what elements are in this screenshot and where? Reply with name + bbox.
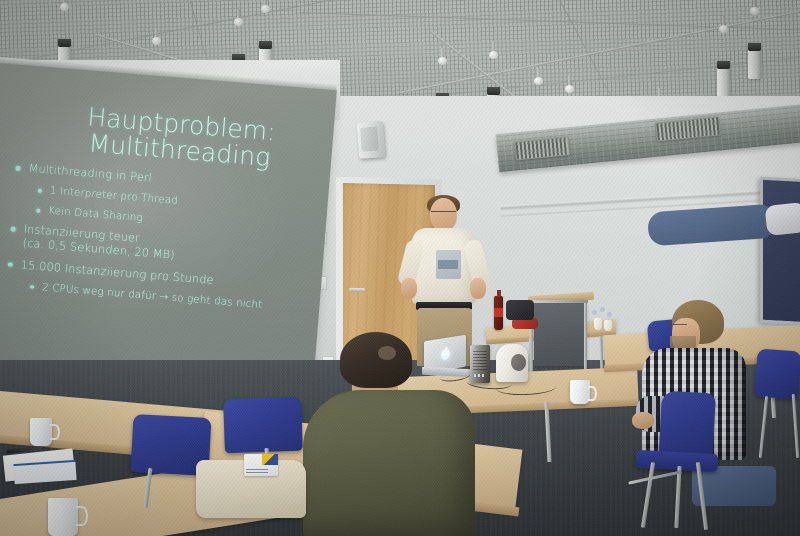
projection-screen: Hauptproblem: Multithreading Multithread…	[0, 62, 337, 389]
presenter-right-hand	[470, 278, 486, 299]
spotlight-fixture	[748, 0, 761, 79]
flower-vase	[604, 320, 612, 331]
glasses-icon	[670, 324, 687, 330]
mug-handle	[588, 386, 597, 401]
vent-grille	[655, 116, 721, 141]
mug	[48, 498, 78, 536]
dark-bag	[506, 300, 534, 320]
kettle	[496, 344, 528, 382]
badge-label	[244, 454, 278, 476]
vent-grille	[514, 136, 570, 160]
door-handle-icon[interactable]	[349, 288, 365, 292]
flower-icon	[607, 312, 612, 317]
mug-handle	[76, 506, 88, 526]
mug	[570, 380, 590, 404]
flower-icon	[600, 307, 605, 312]
attendee-sock	[765, 202, 800, 236]
presenter-left-hand	[401, 278, 417, 299]
spotlight-fixture	[717, 16, 730, 97]
flower-icon	[592, 310, 597, 315]
mug-handle	[50, 424, 60, 440]
folded-table-leg	[584, 300, 587, 372]
glasses-icon	[431, 211, 456, 217]
folded-table-panel	[534, 300, 586, 366]
attendee-torso	[303, 390, 475, 536]
wall-speaker	[357, 121, 385, 159]
attendee-hand	[632, 412, 654, 429]
tshirt-graphic-text	[438, 260, 458, 269]
folded-table-rail	[530, 300, 588, 303]
mug	[30, 418, 52, 446]
presentation-room-photo: Hauptproblem: Multithreading Multithread…	[0, 0, 800, 536]
attendee-green-sweater	[300, 332, 480, 536]
slide-content: Hauptproblem: Multithreading Multithread…	[0, 98, 320, 372]
chair-back[interactable]	[223, 397, 303, 454]
slide-title: Hauptproblem: Multithreading	[7, 98, 320, 174]
attendee-hair	[340, 332, 412, 388]
slide-bullet-list: Multithreading in Perl 1 Interpreter pro…	[0, 160, 315, 315]
flower-vase	[594, 318, 602, 330]
